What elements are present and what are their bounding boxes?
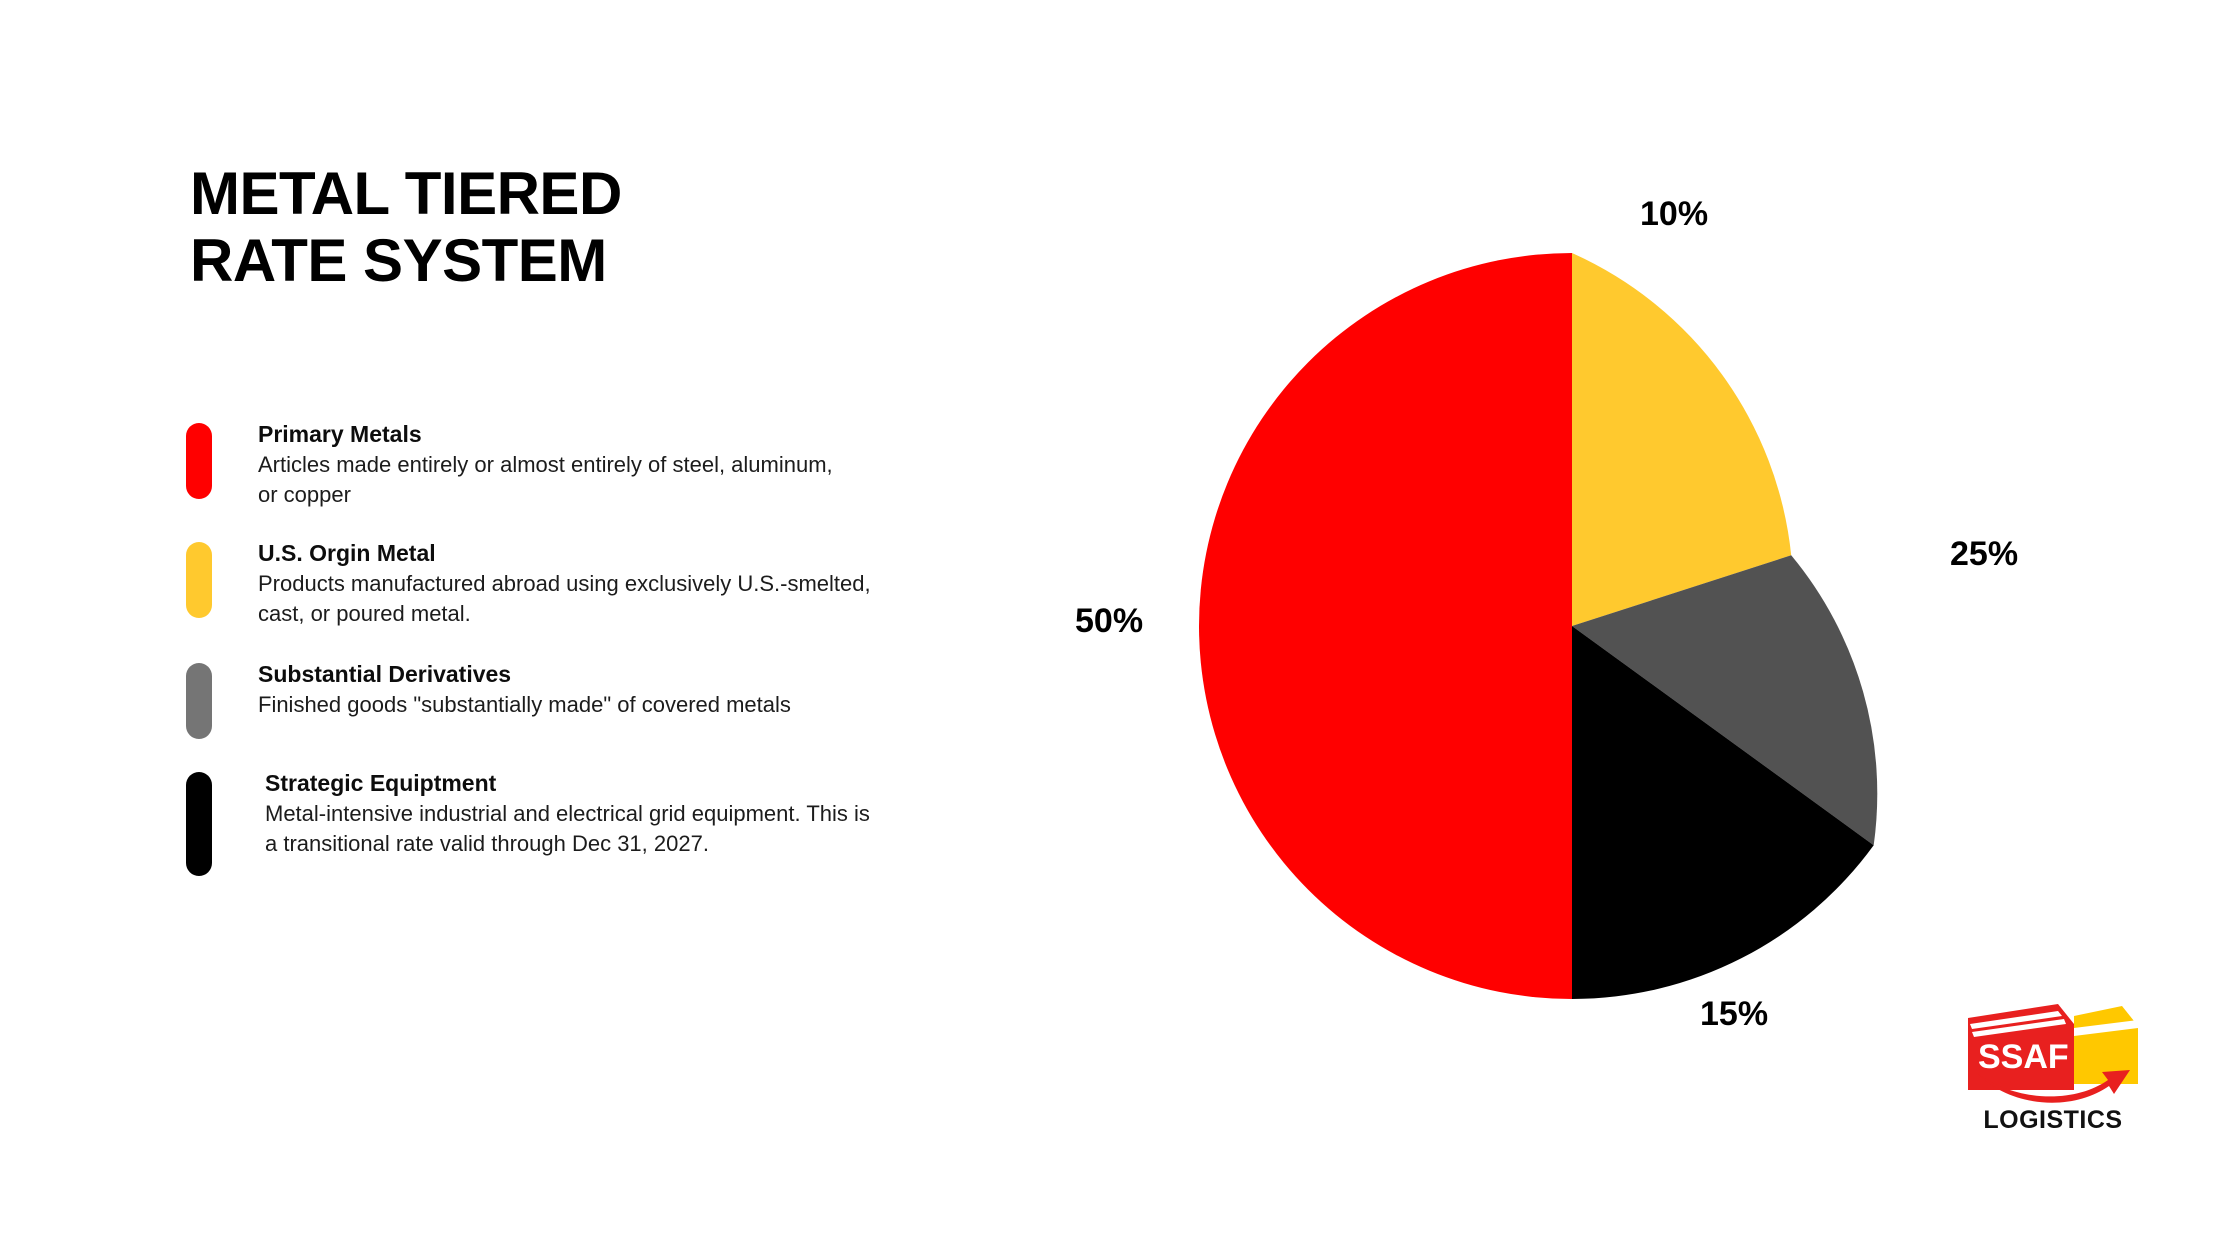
legend-item-heading: Primary Metals: [258, 420, 858, 448]
legend-item-text: Strategic Equiptment Metal-intensive ind…: [265, 769, 885, 860]
legend-item-description: Metal-intensive industrial and electrica…: [265, 799, 885, 860]
ssaf-box-icon: SSAF: [1962, 998, 2144, 1110]
title-line-1: METAL TIERED: [190, 160, 950, 227]
swatch-red: [186, 423, 212, 499]
legend-item-heading: Strategic Equiptment: [265, 769, 885, 797]
ssaf-logistics-logo[interactable]: SSAF LOGISTICS: [1948, 998, 2158, 1148]
legend-item-text: Substantial Derivatives Finished goods "…: [258, 660, 791, 720]
pie-label-15-percent: 15%: [1700, 995, 1768, 1034]
pie-label-10-percent: 10%: [1640, 195, 1708, 234]
pie-chart: 10% 25% 15% 50%: [1135, 190, 2135, 1070]
ssaf-logo-text: SSAF: [1978, 1038, 2069, 1076]
legend-item-strategic-equiptment[interactable]: Strategic Equiptment Metal-intensive ind…: [186, 769, 986, 876]
legend-item-description: Finished goods "substantially made" of c…: [258, 690, 791, 720]
page-title: METAL TIERED RATE SYSTEM: [190, 160, 950, 294]
legend-item-description: Products manufactured abroad using exclu…: [258, 569, 918, 630]
legend-item-text: Primary Metals Articles made entirely or…: [258, 420, 858, 511]
legend-list: Primary Metals Articles made entirely or…: [186, 420, 986, 876]
logistics-wordmark: LOGISTICS: [1948, 1106, 2158, 1135]
pie-slice-primary-metals[interactable]: [1199, 253, 1572, 999]
title-line-2: RATE SYSTEM: [190, 227, 950, 294]
legend-item-primary-metals[interactable]: Primary Metals Articles made entirely or…: [186, 420, 986, 511]
pie-label-50-percent: 50%: [1075, 602, 1143, 641]
pie-chart-svg: [1197, 251, 1947, 1001]
legend-item-substantial-derivatives[interactable]: Substantial Derivatives Finished goods "…: [186, 660, 986, 739]
legend-item-description: Articles made entirely or almost entirel…: [258, 450, 858, 511]
legend-item-heading: U.S. Orgin Metal: [258, 539, 918, 567]
slide-canvas: METAL TIERED RATE SYSTEM Primary Metals …: [0, 0, 2240, 1260]
legend-item-heading: Substantial Derivatives: [258, 660, 791, 688]
swatch-gray: [186, 663, 212, 739]
legend-item-text: U.S. Orgin Metal Products manufactured a…: [258, 539, 918, 630]
swatch-black: [186, 772, 212, 876]
swatch-yellow: [186, 542, 212, 618]
legend-item-us-orgin-metal[interactable]: U.S. Orgin Metal Products manufactured a…: [186, 539, 986, 630]
pie-label-25-percent: 25%: [1950, 535, 2018, 574]
